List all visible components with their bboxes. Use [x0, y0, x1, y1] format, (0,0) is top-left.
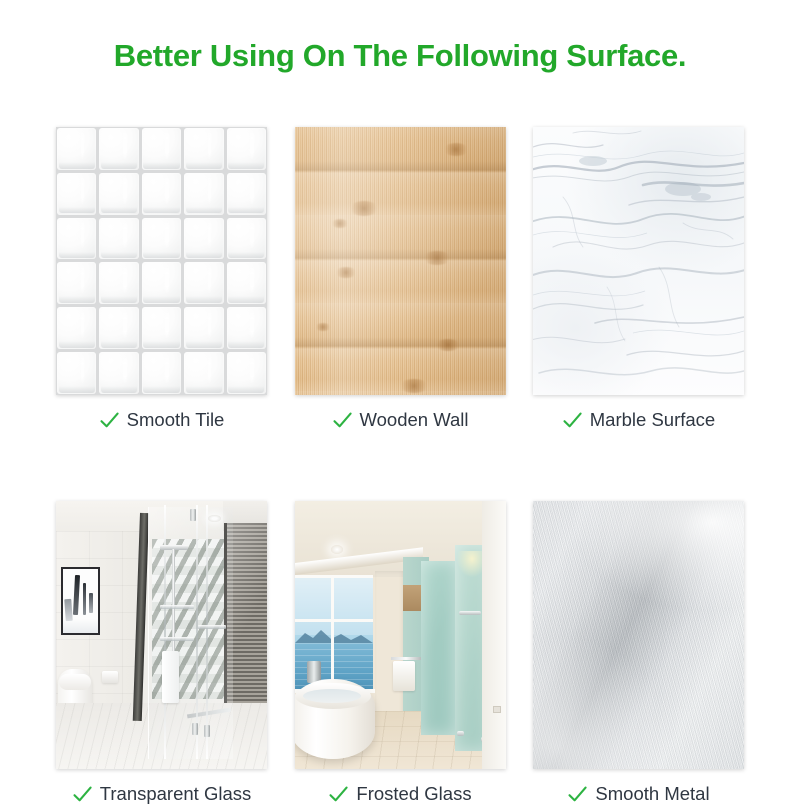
- surface-label: Transparent Glass: [100, 783, 252, 805]
- towel: [393, 661, 415, 691]
- caption-wooden-wall: Wooden Wall: [295, 407, 506, 433]
- surface-label: Frosted Glass: [356, 783, 471, 805]
- check-icon: [328, 784, 349, 805]
- wood-texture: [295, 127, 506, 395]
- wooden-wall-image: [295, 127, 506, 395]
- smooth-tile-image: [56, 127, 267, 395]
- check-icon: [567, 784, 588, 805]
- caption-transparent-glass: Transparent Glass: [56, 781, 267, 807]
- surface-card-smooth-tile[interactable]: Smooth Tile: [56, 127, 267, 433]
- surface-card-transparent-glass[interactable]: Transparent Glass: [56, 501, 267, 807]
- surface-card-frosted-glass[interactable]: Frosted Glass: [295, 501, 506, 807]
- surface-grid: Smooth Tile: [56, 127, 744, 807]
- caption-smooth-metal: Smooth Metal: [533, 781, 744, 807]
- transparent-glass-image: [56, 501, 267, 769]
- caption-smooth-tile: Smooth Tile: [56, 407, 267, 433]
- surface-label: Smooth Tile: [127, 409, 225, 431]
- check-icon: [562, 410, 583, 431]
- frosted-glass-image: [295, 501, 506, 769]
- check-icon: [332, 410, 353, 431]
- bathtub: [295, 679, 375, 759]
- tile-grid: [56, 127, 267, 395]
- caption-frosted-glass: Frosted Glass: [295, 781, 506, 807]
- marble-surface-image: [533, 127, 744, 395]
- surface-label: Marble Surface: [590, 409, 715, 431]
- brushed-metal-texture: [533, 501, 744, 769]
- page-title: Better Using On The Following Surface.: [0, 38, 800, 74]
- surface-card-marble-surface[interactable]: Marble Surface: [533, 127, 744, 433]
- surface-label: Smooth Metal: [595, 783, 709, 805]
- surface-label: Wooden Wall: [360, 409, 469, 431]
- surface-card-wooden-wall[interactable]: Wooden Wall: [295, 127, 506, 433]
- marble-texture: [533, 127, 744, 395]
- curtain: [375, 571, 405, 729]
- surface-row-bottom: Transparent Glass: [56, 501, 744, 807]
- framed-art: [61, 567, 100, 635]
- surface-card-smooth-metal[interactable]: Smooth Metal: [533, 501, 744, 807]
- surface-row-top: Smooth Tile: [56, 127, 744, 433]
- caption-marble-surface: Marble Surface: [533, 407, 744, 433]
- smooth-metal-image: [533, 501, 744, 769]
- check-icon: [99, 410, 120, 431]
- bathroom-sea-view-photo: [295, 501, 506, 769]
- bathroom-glass-shower-photo: [56, 501, 267, 769]
- check-icon: [72, 784, 93, 805]
